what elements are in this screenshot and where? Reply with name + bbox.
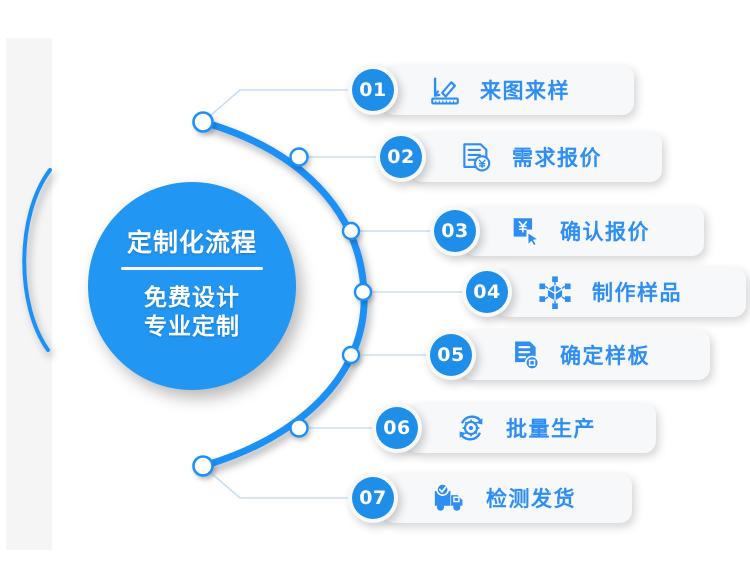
step-number-04: 04: [466, 271, 508, 313]
arc-node-07: [194, 457, 213, 476]
quote-document-yen-icon: [458, 140, 492, 174]
yen-confirm-cursor-icon: [508, 214, 542, 248]
step-badge-07[interactable]: 07: [348, 473, 398, 523]
step-badge-05[interactable]: 05: [426, 330, 476, 380]
inspection-truck-icon: [432, 481, 466, 515]
step-badge-01[interactable]: 01: [348, 65, 398, 115]
step-label-02: 需求报价: [512, 142, 602, 172]
arc-node-06: [291, 420, 308, 437]
hub-subtitle: 免费设计 专业定制: [144, 283, 240, 342]
step-number-03: 03: [434, 210, 476, 252]
step-badge-02[interactable]: 02: [376, 132, 426, 182]
approved-template-icon: [508, 338, 542, 372]
arc-node-02: [291, 149, 308, 166]
hub-subtitle-line-1: 免费设计: [144, 283, 240, 312]
step-number-06: 06: [376, 407, 418, 449]
hub-divider: [121, 267, 263, 270]
step-number-01: 01: [352, 69, 394, 111]
step-badge-04[interactable]: 04: [462, 267, 512, 317]
step-number-05: 05: [430, 334, 472, 376]
step-badge-03[interactable]: 03: [430, 206, 480, 256]
arc-node-01: [194, 113, 213, 132]
hub-title: 定制化流程: [127, 231, 257, 256]
drafting-pencil-icon: [428, 73, 462, 107]
step-label-01: 来图来样: [480, 75, 570, 105]
production-gear-cycle-icon: [454, 411, 488, 445]
step-label-06: 批量生产: [506, 413, 596, 443]
hub-subtitle-line-2: 专业定制: [144, 312, 240, 341]
arc-node-05: [343, 347, 359, 363]
step-number-07: 07: [352, 477, 394, 519]
center-hub: 定制化流程 免费设计 专业定制: [88, 182, 296, 390]
decorative-left-arc: [24, 170, 50, 350]
step-label-04: 制作样品: [592, 277, 682, 307]
arc-node-04: [355, 284, 371, 300]
step-label-07: 检测发货: [486, 483, 576, 513]
step-number-02: 02: [380, 136, 422, 178]
step-label-05: 确定样板: [560, 340, 650, 370]
infographic-canvas: 定制化流程 免费设计 专业定制 01 来图来样 02: [0, 0, 750, 588]
arc-node-03: [343, 223, 359, 239]
sample-cube-node-icon: [538, 275, 572, 309]
connector-line-07: [203, 466, 372, 498]
step-label-03: 确认报价: [560, 216, 650, 246]
step-badge-06[interactable]: 06: [372, 403, 422, 453]
